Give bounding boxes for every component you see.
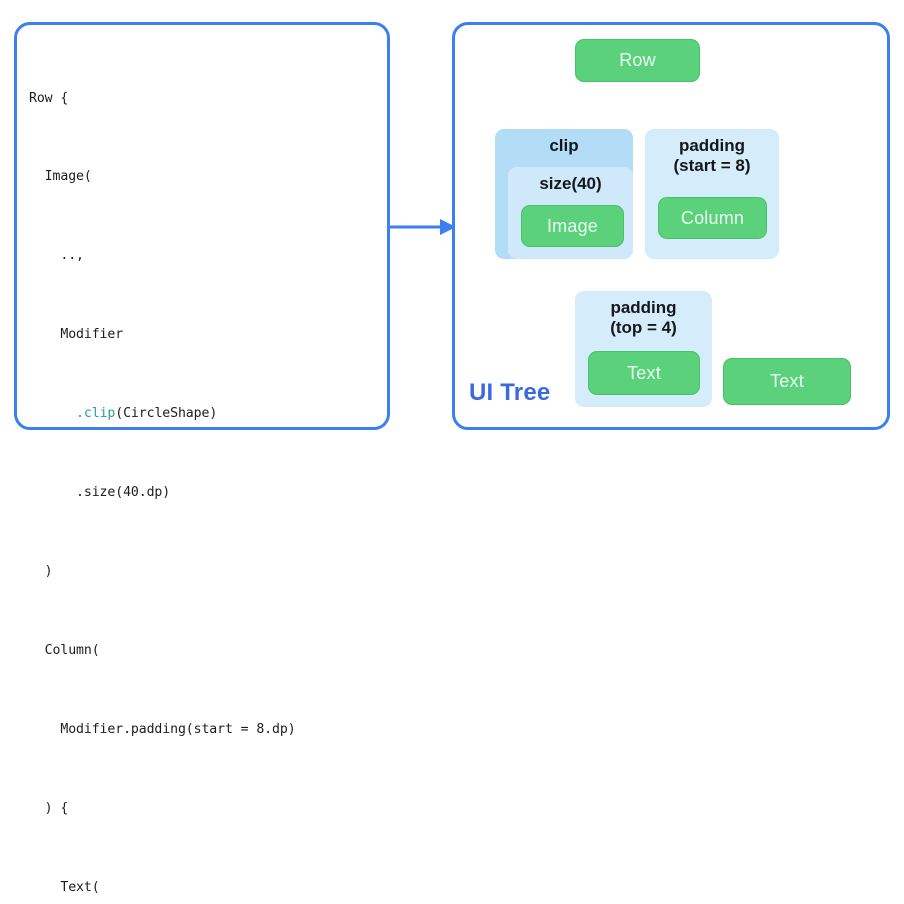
node-row[interactable]: Row	[575, 39, 700, 82]
node-text-padded[interactable]: Text	[588, 351, 700, 395]
code-line-7: Column(	[29, 638, 383, 664]
node-image-label: Image	[547, 216, 598, 236]
node-modifier-padding-start[interactable]: padding (start = 8) Column	[645, 129, 779, 259]
code-line-10: Text(	[29, 875, 383, 901]
node-text-padded-label: Text	[627, 363, 661, 383]
node-modifier-size[interactable]: size(40) Image	[508, 167, 633, 259]
ui-tree-panel: Row clip size(40) Image padding (start =…	[452, 22, 890, 430]
node-text-plain[interactable]: Text	[723, 358, 851, 405]
node-column-label: Column	[681, 208, 744, 228]
code-line-4: .clip(CircleShape)	[29, 401, 383, 427]
node-padding-start-label: padding (start = 8)	[645, 129, 779, 176]
code-panel: Row { Image( .., Modifier .clip(CircleSh…	[14, 22, 390, 430]
code-line-3: Modifier	[29, 322, 383, 348]
code-line-9: ) {	[29, 796, 383, 822]
ui-tree-caption: UI Tree	[469, 379, 550, 407]
code-line-2: ..,	[29, 243, 383, 269]
code-line-5: .size(40.dp)	[29, 480, 383, 506]
code-line-0: Row {	[29, 86, 383, 112]
clip-args: (CircleShape)	[115, 406, 217, 421]
code-line-8: Modifier.padding(start = 8.dp)	[29, 717, 383, 743]
node-image[interactable]: Image	[521, 205, 624, 247]
node-modifier-padding-top[interactable]: padding (top = 4) Text	[575, 291, 712, 407]
transform-arrow	[388, 212, 456, 242]
node-modifier-clip[interactable]: clip size(40) Image	[495, 129, 633, 259]
code-line-1: Image(	[29, 164, 383, 190]
node-size-label: size(40)	[508, 167, 633, 194]
node-row-label: Row	[619, 50, 656, 71]
arrow-icon	[388, 212, 456, 242]
node-column[interactable]: Column	[658, 197, 767, 239]
node-text-plain-label: Text	[770, 371, 804, 392]
diagram-stage: Row { Image( .., Modifier .clip(CircleSh…	[0, 0, 904, 452]
code-block: Row { Image( .., Modifier .clip(CircleSh…	[29, 33, 383, 904]
node-padding-top-label: padding (top = 4)	[575, 291, 712, 338]
node-clip-label: clip	[495, 129, 633, 156]
code-line-6: )	[29, 559, 383, 585]
code-indent-clip	[29, 406, 76, 421]
clip-keyword: .clip	[76, 406, 115, 421]
